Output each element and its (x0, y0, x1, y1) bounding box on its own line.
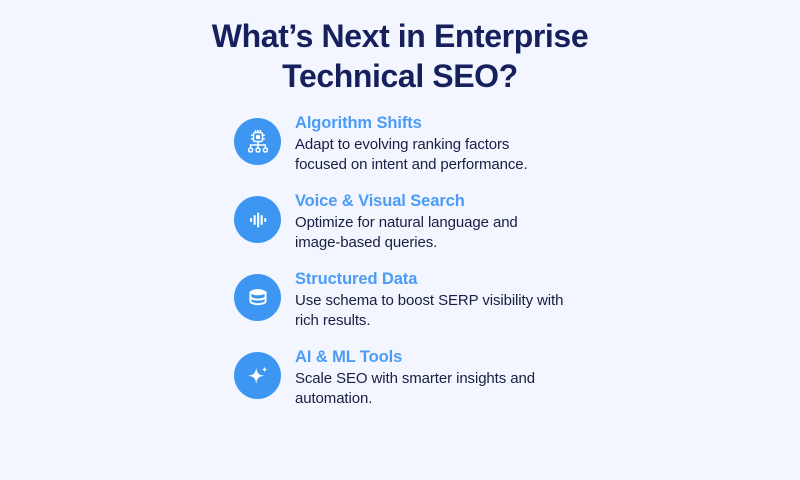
feature-description-line-2: automation. (295, 389, 535, 409)
feature-description: Optimize for natural language and image-… (295, 213, 518, 253)
algorithm-chip-network-icon (234, 118, 281, 165)
slide-canvas: What’s Next in Enterprise Technical SEO? (0, 0, 800, 480)
feature-text: Voice & Visual Search Optimize for natur… (295, 191, 518, 253)
feature-description: Use schema to boost SERP visibility with… (295, 291, 563, 331)
feature-description-line-2: rich results. (295, 311, 563, 331)
list-item: Algorithm Shifts Adapt to evolving ranki… (234, 113, 634, 175)
list-item: AI & ML Tools Scale SEO with smarter ins… (234, 347, 634, 409)
page-title-line-1: What’s Next in Enterprise (100, 16, 700, 56)
feature-heading: Algorithm Shifts (295, 113, 528, 134)
feature-description: Adapt to evolving ranking factors focuse… (295, 135, 528, 175)
list-item: Voice & Visual Search Optimize for natur… (234, 191, 634, 253)
feature-text: Algorithm Shifts Adapt to evolving ranki… (295, 113, 528, 175)
database-cylinder-icon (234, 274, 281, 321)
feature-description: Scale SEO with smarter insights and auto… (295, 369, 535, 409)
page-title-line-2: Technical SEO? (100, 56, 700, 96)
feature-description-line-1: Optimize for natural language and (295, 213, 518, 233)
feature-list: Algorithm Shifts Adapt to evolving ranki… (234, 113, 634, 409)
feature-heading: AI & ML Tools (295, 347, 535, 368)
feature-text: Structured Data Use schema to boost SERP… (295, 269, 563, 331)
feature-description-line-1: Use schema to boost SERP visibility with (295, 291, 563, 311)
feature-text: AI & ML Tools Scale SEO with smarter ins… (295, 347, 535, 409)
feature-description-line-1: Adapt to evolving ranking factors (295, 135, 528, 155)
sparkle-ai-icon (234, 352, 281, 399)
feature-description-line-2: image-based queries. (295, 233, 518, 253)
list-item: Structured Data Use schema to boost SERP… (234, 269, 634, 331)
feature-description-line-2: focused on intent and performance. (295, 155, 528, 175)
feature-description-line-1: Scale SEO with smarter insights and (295, 369, 535, 389)
feature-heading: Voice & Visual Search (295, 191, 518, 212)
page-title: What’s Next in Enterprise Technical SEO? (100, 16, 700, 96)
voice-waveform-icon (234, 196, 281, 243)
feature-heading: Structured Data (295, 269, 563, 290)
